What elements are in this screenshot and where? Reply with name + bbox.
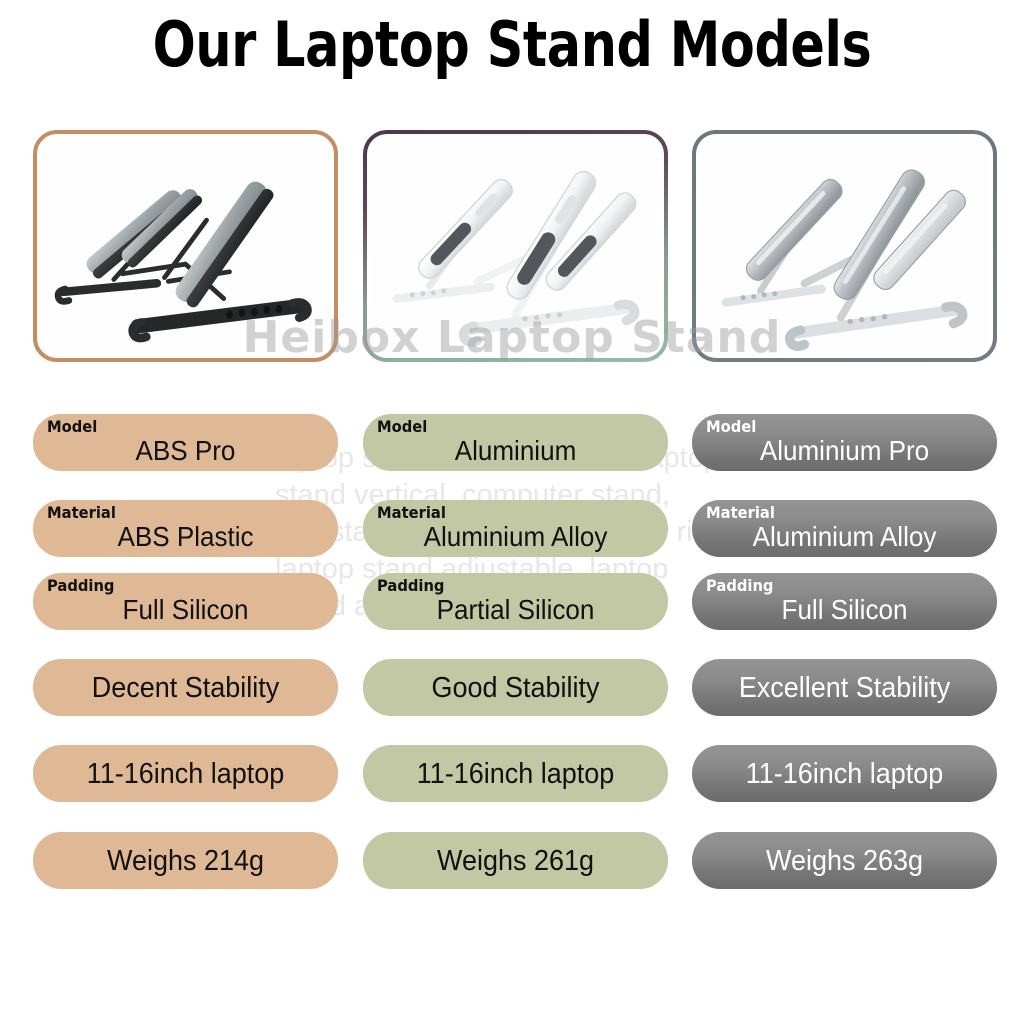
- spec-pill-aluminium-stability: Good Stability: [363, 659, 668, 716]
- spec-value: Decent Stability: [44, 659, 328, 716]
- spec-pill-aluminium-weight: Weighs 261g: [363, 832, 668, 889]
- spec-value: 11-16inch laptop: [44, 745, 328, 802]
- spec-label: Padding: [47, 577, 114, 595]
- spec-value: Weighs 263g: [703, 832, 987, 889]
- spec-label: Model: [47, 418, 97, 436]
- spec-pill-aluminium-model: Model Aluminium: [363, 414, 668, 471]
- spec-value: Aluminium Alloy: [374, 521, 658, 553]
- spec-pill-aluminium-material: Material Aluminium Alloy: [363, 500, 668, 557]
- spec-comparison-grid: Model ABS Pro Model Aluminium Model Alum…: [0, 0, 1024, 1024]
- spec-label: Material: [706, 504, 775, 522]
- spec-value: Good Stability: [374, 659, 658, 716]
- spec-pill-abs-pro-compatibility: 11-16inch laptop: [33, 745, 338, 802]
- spec-label: Model: [377, 418, 427, 436]
- spec-value: Weighs 214g: [44, 832, 328, 889]
- spec-value: Excellent Stability: [703, 659, 987, 716]
- spec-pill-aluminium-pro-padding: Padding Full Silicon: [692, 573, 997, 630]
- spec-value: ABS Plastic: [44, 521, 328, 553]
- spec-label: Model: [706, 418, 756, 436]
- spec-value: Full Silicon: [44, 594, 328, 626]
- spec-value: 11-16inch laptop: [374, 745, 658, 802]
- spec-value: ABS Pro: [44, 435, 328, 467]
- spec-label: Material: [47, 504, 116, 522]
- infographic-page: Our Laptop Stand Models: [0, 0, 1024, 1024]
- spec-pill-aluminium-pro-weight: Weighs 263g: [692, 832, 997, 889]
- spec-value: 11-16inch laptop: [703, 745, 987, 802]
- spec-label: Padding: [706, 577, 773, 595]
- spec-value: Weighs 261g: [374, 832, 658, 889]
- spec-value: Aluminium Alloy: [703, 521, 987, 553]
- spec-label: Padding: [377, 577, 444, 595]
- spec-pill-aluminium-padding: Padding Partial Silicon: [363, 573, 668, 630]
- spec-pill-abs-pro-weight: Weighs 214g: [33, 832, 338, 889]
- spec-value: Aluminium Pro: [703, 435, 987, 467]
- spec-pill-abs-pro-model: Model ABS Pro: [33, 414, 338, 471]
- spec-pill-aluminium-pro-model: Model Aluminium Pro: [692, 414, 997, 471]
- spec-value: Full Silicon: [703, 594, 987, 626]
- spec-pill-abs-pro-padding: Padding Full Silicon: [33, 573, 338, 630]
- spec-pill-aluminium-compatibility: 11-16inch laptop: [363, 745, 668, 802]
- spec-label: Material: [377, 504, 446, 522]
- spec-value: Aluminium: [374, 435, 658, 467]
- spec-pill-abs-pro-stability: Decent Stability: [33, 659, 338, 716]
- spec-pill-aluminium-pro-compatibility: 11-16inch laptop: [692, 745, 997, 802]
- spec-value: Partial Silicon: [374, 594, 658, 626]
- spec-pill-aluminium-pro-stability: Excellent Stability: [692, 659, 997, 716]
- spec-pill-aluminium-pro-material: Material Aluminium Alloy: [692, 500, 997, 557]
- spec-pill-abs-pro-material: Material ABS Plastic: [33, 500, 338, 557]
